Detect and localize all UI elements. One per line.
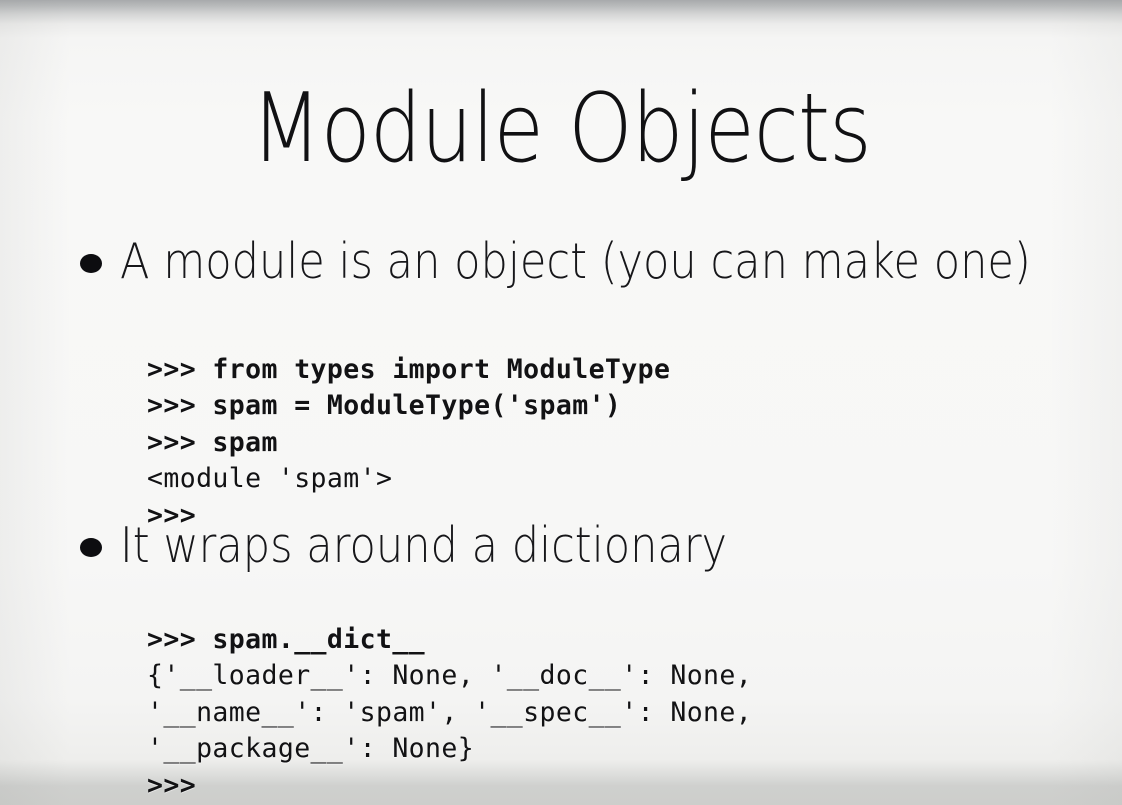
bullet-item-1: A module is an object (you can make one) (80, 236, 1122, 287)
code-line: '__package__': None} (147, 731, 752, 768)
bullet-2-label: It wraps around a dictionary (120, 520, 727, 571)
code-block-2: >>> spam.__dict__{'__loader__': None, '_… (147, 622, 752, 805)
code-line: >>> (147, 768, 752, 805)
bullet-dot-icon (80, 538, 102, 557)
code-line: >>> spam = ModuleType('spam') (147, 388, 670, 425)
code-line: {'__loader__': None, '__doc__': None, (147, 658, 752, 695)
slide-canvas: Module Objects A module is an object (yo… (0, 0, 1122, 805)
code-line: <module 'spam'> (147, 461, 670, 498)
code-line: >>> spam (147, 425, 670, 462)
bullet-item-2: It wraps around a dictionary (80, 520, 810, 571)
code-line: >>> spam.__dict__ (147, 622, 752, 659)
code-line: '__name__': 'spam', '__spec__': None, (147, 695, 752, 732)
bullet-1-label: A module is an object (you can make one) (120, 236, 1031, 287)
page-title: Module Objects (79, 80, 1044, 180)
code-line: >>> from types import ModuleType (147, 352, 670, 389)
code-block-1: >>> from types import ModuleType>>> spam… (147, 352, 670, 535)
bullet-dot-icon (80, 254, 102, 273)
